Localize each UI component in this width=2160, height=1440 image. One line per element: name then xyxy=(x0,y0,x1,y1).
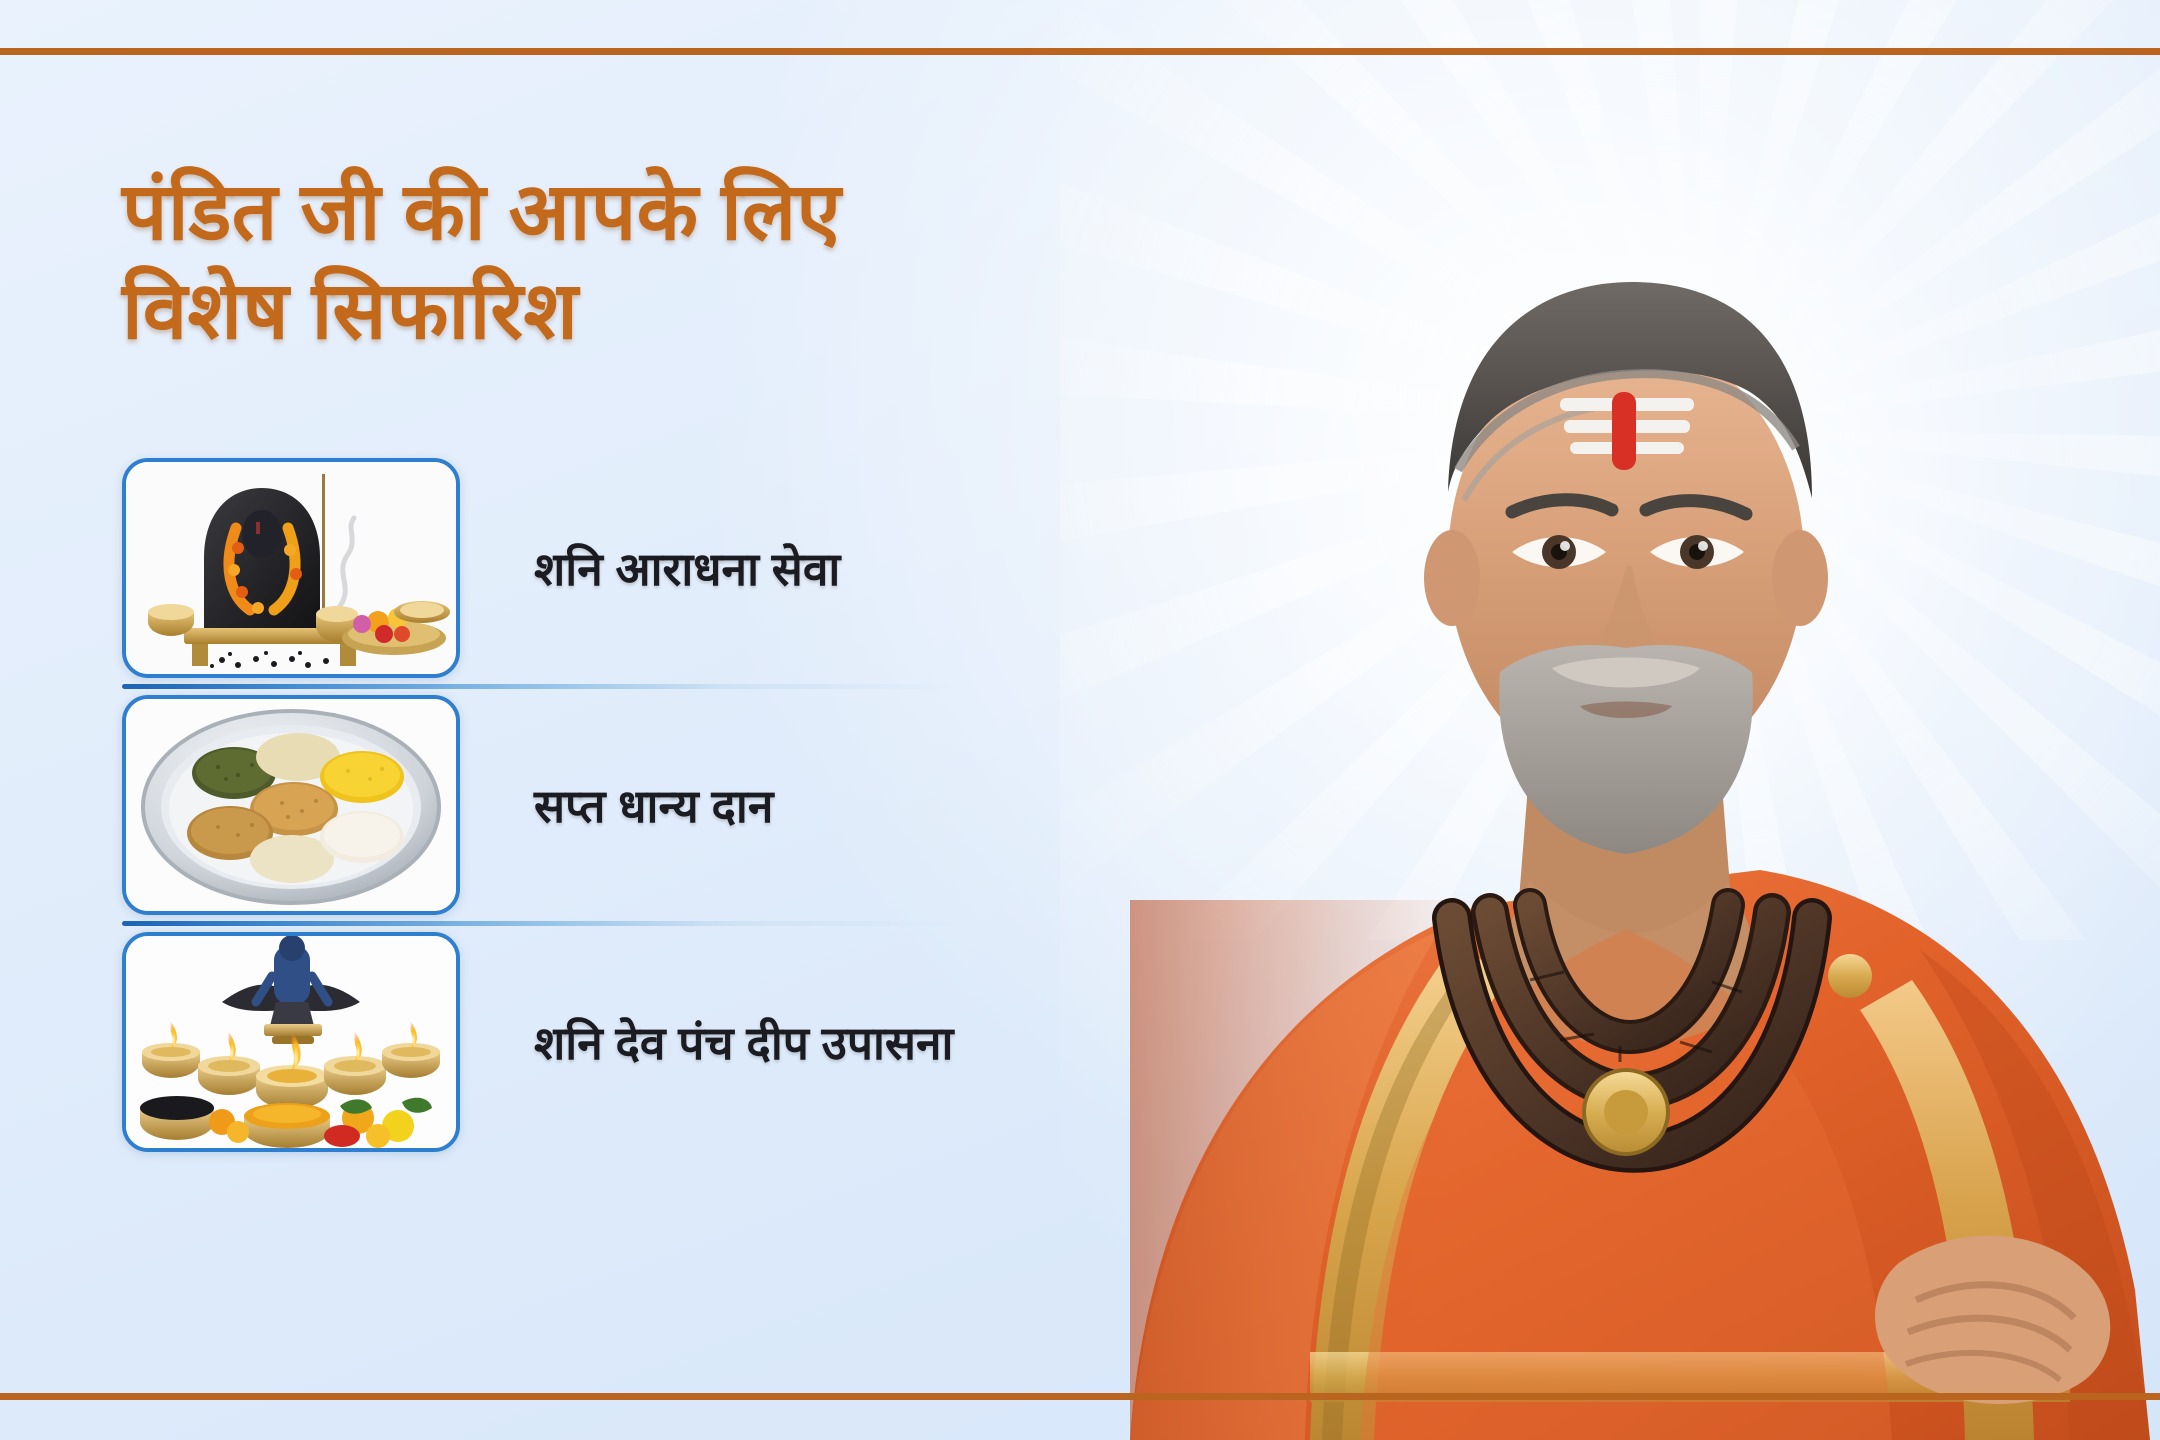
page-title: पंडित जी की आपके लिए विशेष सिफारिश xyxy=(122,162,1182,360)
list-item-label: शनि आराधना सेवा xyxy=(534,537,840,599)
list-item-label: शनि देव पंच दीप उपासना xyxy=(534,1011,953,1073)
shani-idol-puja-thumbnail[interactable] xyxy=(122,458,460,678)
left-content: पंडित जी की आपके लिए विशेष सिफारिश xyxy=(0,0,1240,1440)
list-item[interactable]: शनि आराधना सेवा xyxy=(122,452,1122,684)
recommendation-banner: पंडित जी की आपके लिए विशेष सिफारिश xyxy=(0,0,2160,1440)
sapta-dhanya-thali-thumbnail[interactable] xyxy=(122,695,460,915)
list-item-label: सप्त धान्य दान xyxy=(534,774,773,836)
recommendation-list: शनि आराधना सेवा xyxy=(122,452,1122,1158)
shani-dev-panch-deep-thumbnail[interactable] xyxy=(122,932,460,1152)
page-title-line-2: विशेष सिफारिश xyxy=(122,261,1182,360)
page-title-line-1: पंडित जी की आपके लिए xyxy=(122,167,841,256)
list-item[interactable]: शनि देव पंच दीप उपासना xyxy=(122,926,1122,1158)
list-item[interactable]: सप्त धान्य दान xyxy=(122,689,1122,921)
